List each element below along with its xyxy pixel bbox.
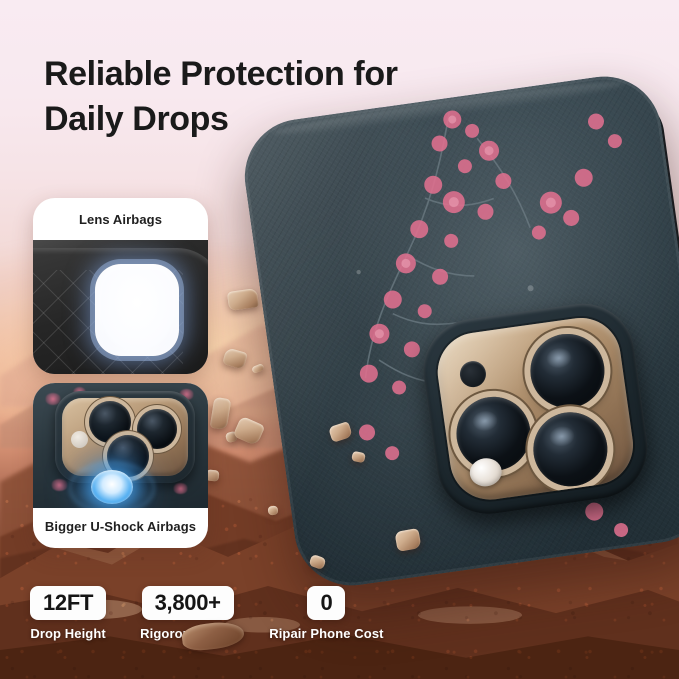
camera-plate (433, 313, 639, 505)
inset-card-ushock-airbags: Bigger U-Shock Airbags (33, 383, 208, 548)
case-back-panel (237, 69, 679, 593)
u-shock-airbag-indicator (91, 470, 133, 504)
inset-card-lens-airbags: Lens Airbags (33, 198, 208, 374)
blossom-accent (173, 483, 188, 494)
stat-label: Ripair Phone Cost (269, 626, 383, 641)
stat-item: 0 Ripair Phone Cost (269, 586, 383, 641)
plate-sheen (433, 313, 639, 505)
stat-item: 12FT Drop Height (30, 586, 106, 641)
phone-case-hero (237, 69, 679, 593)
lens-airbag-photo (33, 240, 208, 374)
stat-label: Drop Height (30, 626, 106, 641)
ushock-airbag-photo (33, 383, 208, 508)
flash-module (71, 431, 88, 448)
stat-value: 3,800+ (142, 586, 234, 620)
inset-label-lens-airbags: Lens Airbags (33, 212, 208, 227)
blossom-accent (51, 479, 68, 491)
product-feature-image: Reliable Protection for Daily Drops (0, 0, 679, 679)
camera-island (417, 297, 654, 521)
inset-label-ushock-airbags: Bigger U-Shock Airbags (33, 519, 208, 534)
stat-value: 12FT (30, 586, 106, 620)
lens-airbag-cutout (95, 264, 179, 356)
headline-line-1: Reliable Protection for (44, 55, 398, 93)
stat-value: 0 (307, 586, 345, 620)
